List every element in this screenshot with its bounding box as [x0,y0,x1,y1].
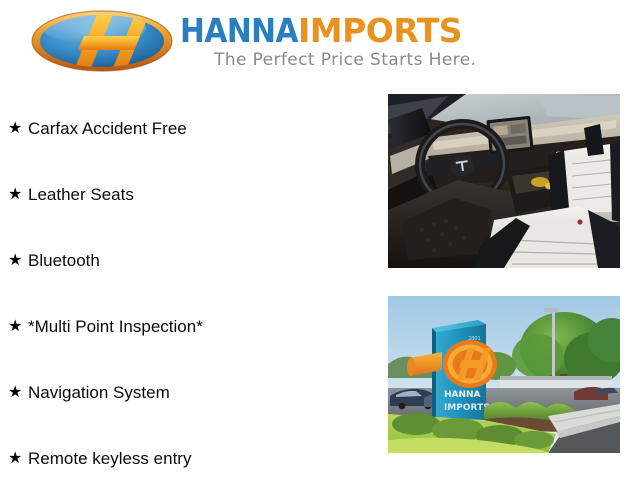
star-bullet-icon: ★ [8,451,28,467]
star-bullet-icon: ★ [8,253,28,269]
list-item: ★ Remote keyless entry [0,426,380,492]
list-item: ★ Carfax Accident Free [0,96,380,162]
feature-label: Navigation System [28,383,170,403]
list-item: ★ *Multi Point Inspection* [0,294,380,360]
star-bullet-icon: ★ [8,385,28,401]
vehicle-interior-photo [388,94,620,268]
svg-text:IMPORTS: IMPORTS [444,403,490,413]
dealership-sign-photo: 2801 HANNA IMPORTS [388,296,620,453]
wordmark-imports: IMPORTS [298,11,462,50]
feature-label: Bluetooth [28,251,100,271]
list-item: ★ Navigation System [0,360,380,426]
star-bullet-icon: ★ [8,121,28,137]
logo-wordmark: HANNAIMPORTS [180,14,520,48]
feature-label: *Multi Point Inspection* [28,317,203,337]
list-item: ★ Leather Seats [0,162,380,228]
hanna-oval-h-logo-icon [28,10,176,72]
feature-label: Carfax Accident Free [28,119,187,139]
star-bullet-icon: ★ [8,319,28,335]
feature-label: Remote keyless entry [28,449,191,469]
logo-tagline: The Perfect Price Starts Here. [214,50,476,70]
vehicle-feature-list: ★ Carfax Accident Free ★ Leather Seats ★… [0,96,380,492]
feature-label: Leather Seats [28,185,134,205]
star-bullet-icon: ★ [8,187,28,203]
page-header: HANNAIMPORTS The Perfect Price Starts He… [0,0,640,88]
wordmark-hanna: HANNA [180,11,298,50]
svg-text:HANNA: HANNA [444,390,481,400]
list-item: ★ Bluetooth [0,228,380,294]
